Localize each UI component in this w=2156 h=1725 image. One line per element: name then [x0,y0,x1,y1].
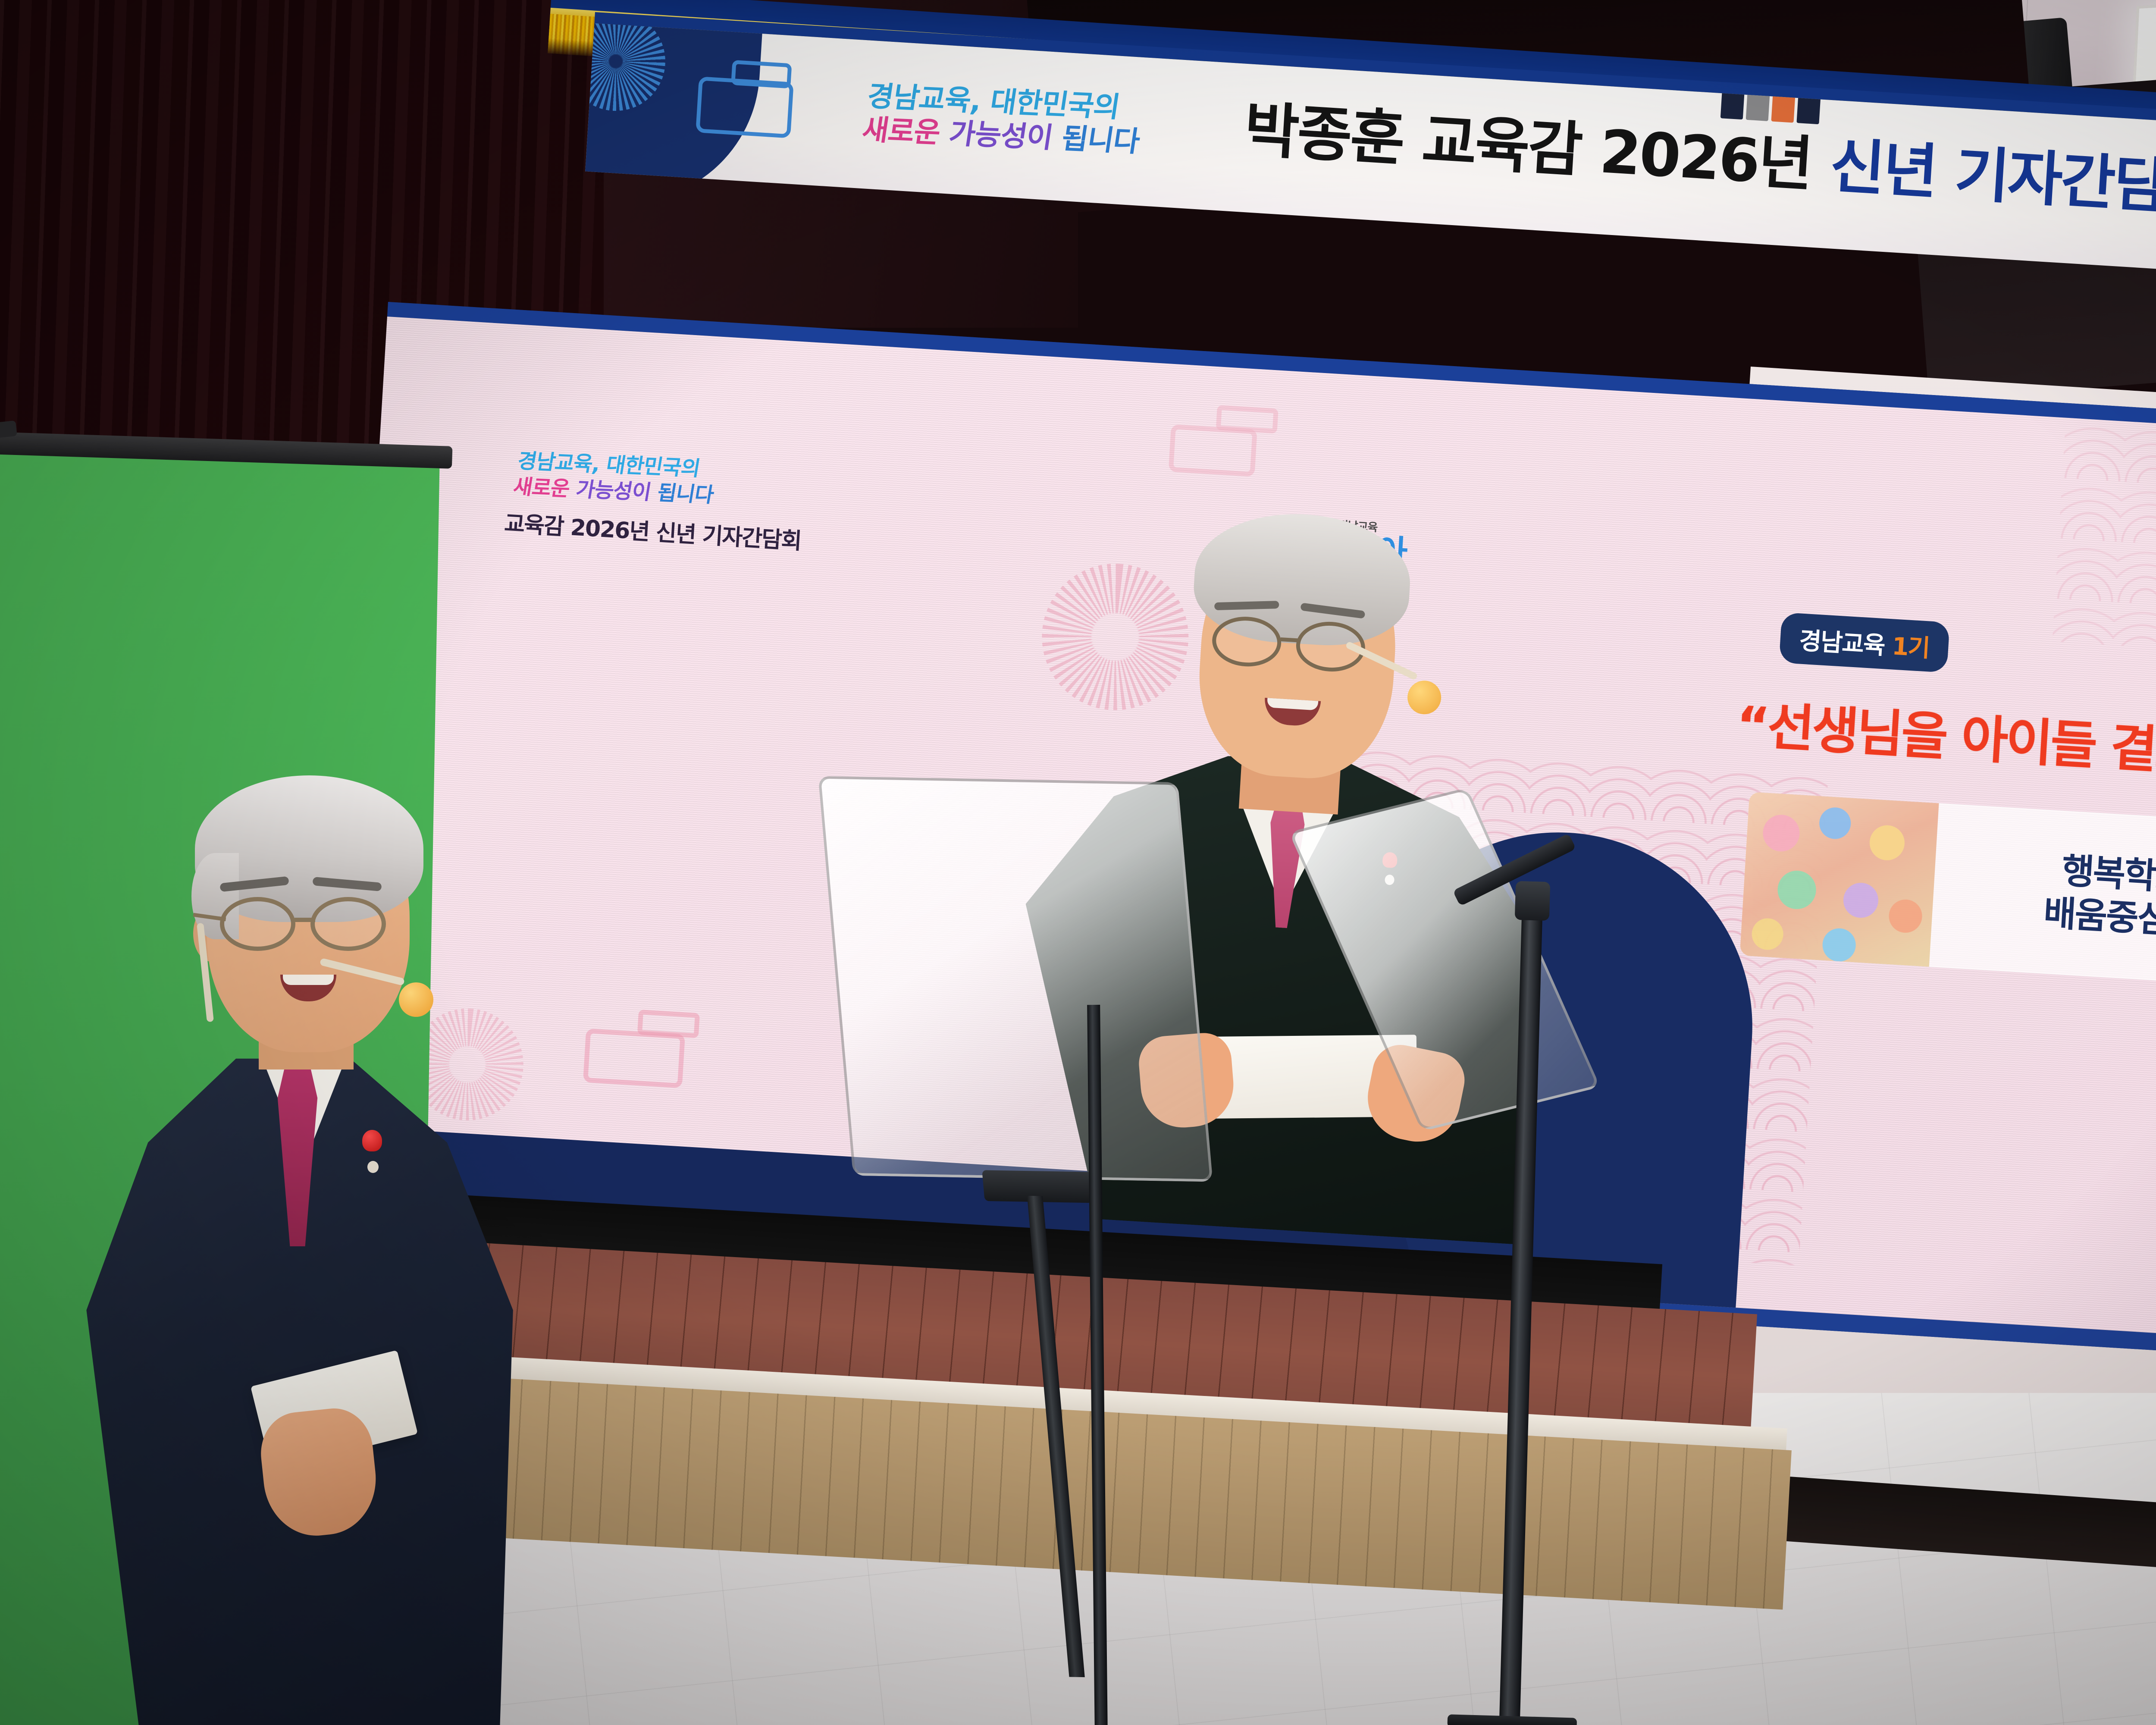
mic-stand-joint [1515,881,1550,921]
key-pattern-icon [696,76,794,138]
speaker-glasses-left-icon [220,897,295,951]
press-conference-scene: 경남교육, 대한민국의 새로운 가능성이 됩니다 박종훈 교육감 2026년 신… [0,0,2156,1725]
card-text: 행복학교와 배움중심수업 [1931,842,2156,953]
speaker-person [78,750,535,1725]
banner-title-name: 박종훈 교육감 [1242,95,1602,186]
banner-slogan-word-becomes: 됩니다 [1050,121,1142,158]
led-speaker-mic-windscreen-icon [1407,680,1442,715]
cohort-badge-number: 1기 [1891,632,1930,662]
speaker-hair [195,775,423,922]
wave-pattern-topright-icon [2053,418,2156,677]
teleprompter-left-glass [818,776,1213,1182]
banner-title: 박종훈 교육감 2026년 신년 기자간담회 [1242,81,2156,228]
teleprompter-left[interactable] [818,776,1213,1182]
speaker-glasses-bridge [295,918,315,922]
led-slogan-word-becomes: 됩니다 [649,480,715,507]
led-subtitle: 교육감 2026년 신년 기자간담회 [504,505,802,555]
banner-title-year: 2026년 [1598,117,1832,201]
speaker-mic-windscreen-icon [399,982,433,1017]
key-pattern-1-icon [583,1029,685,1088]
speaker-lapel-pin-icon [362,1130,382,1182]
card-photo-students-icon [1739,792,1939,967]
led-slogan: 경남교육, 대한민국의 새로운 가능성이 됩니다 [511,448,822,512]
speaker-glasses-right-icon [310,897,386,951]
led-slogan-word-new: 새로운 [511,475,571,501]
banner-slogan-word-new: 새로운 [860,113,943,149]
banner-slogan-word-possibility: 가능성이 [937,116,1055,154]
banner-title-event: 신년 기자간담회 [1828,131,2156,225]
cohort-badge-label: 경남교육 [1799,627,1893,660]
banner-slogan: 경남교육, 대한민국의 새로운 가능성이 됩니다 [860,79,1198,160]
cohort-badge: 경남교육 1기 [1779,612,1950,673]
led-slogan-word-possibility: 가능성이 [567,477,653,505]
